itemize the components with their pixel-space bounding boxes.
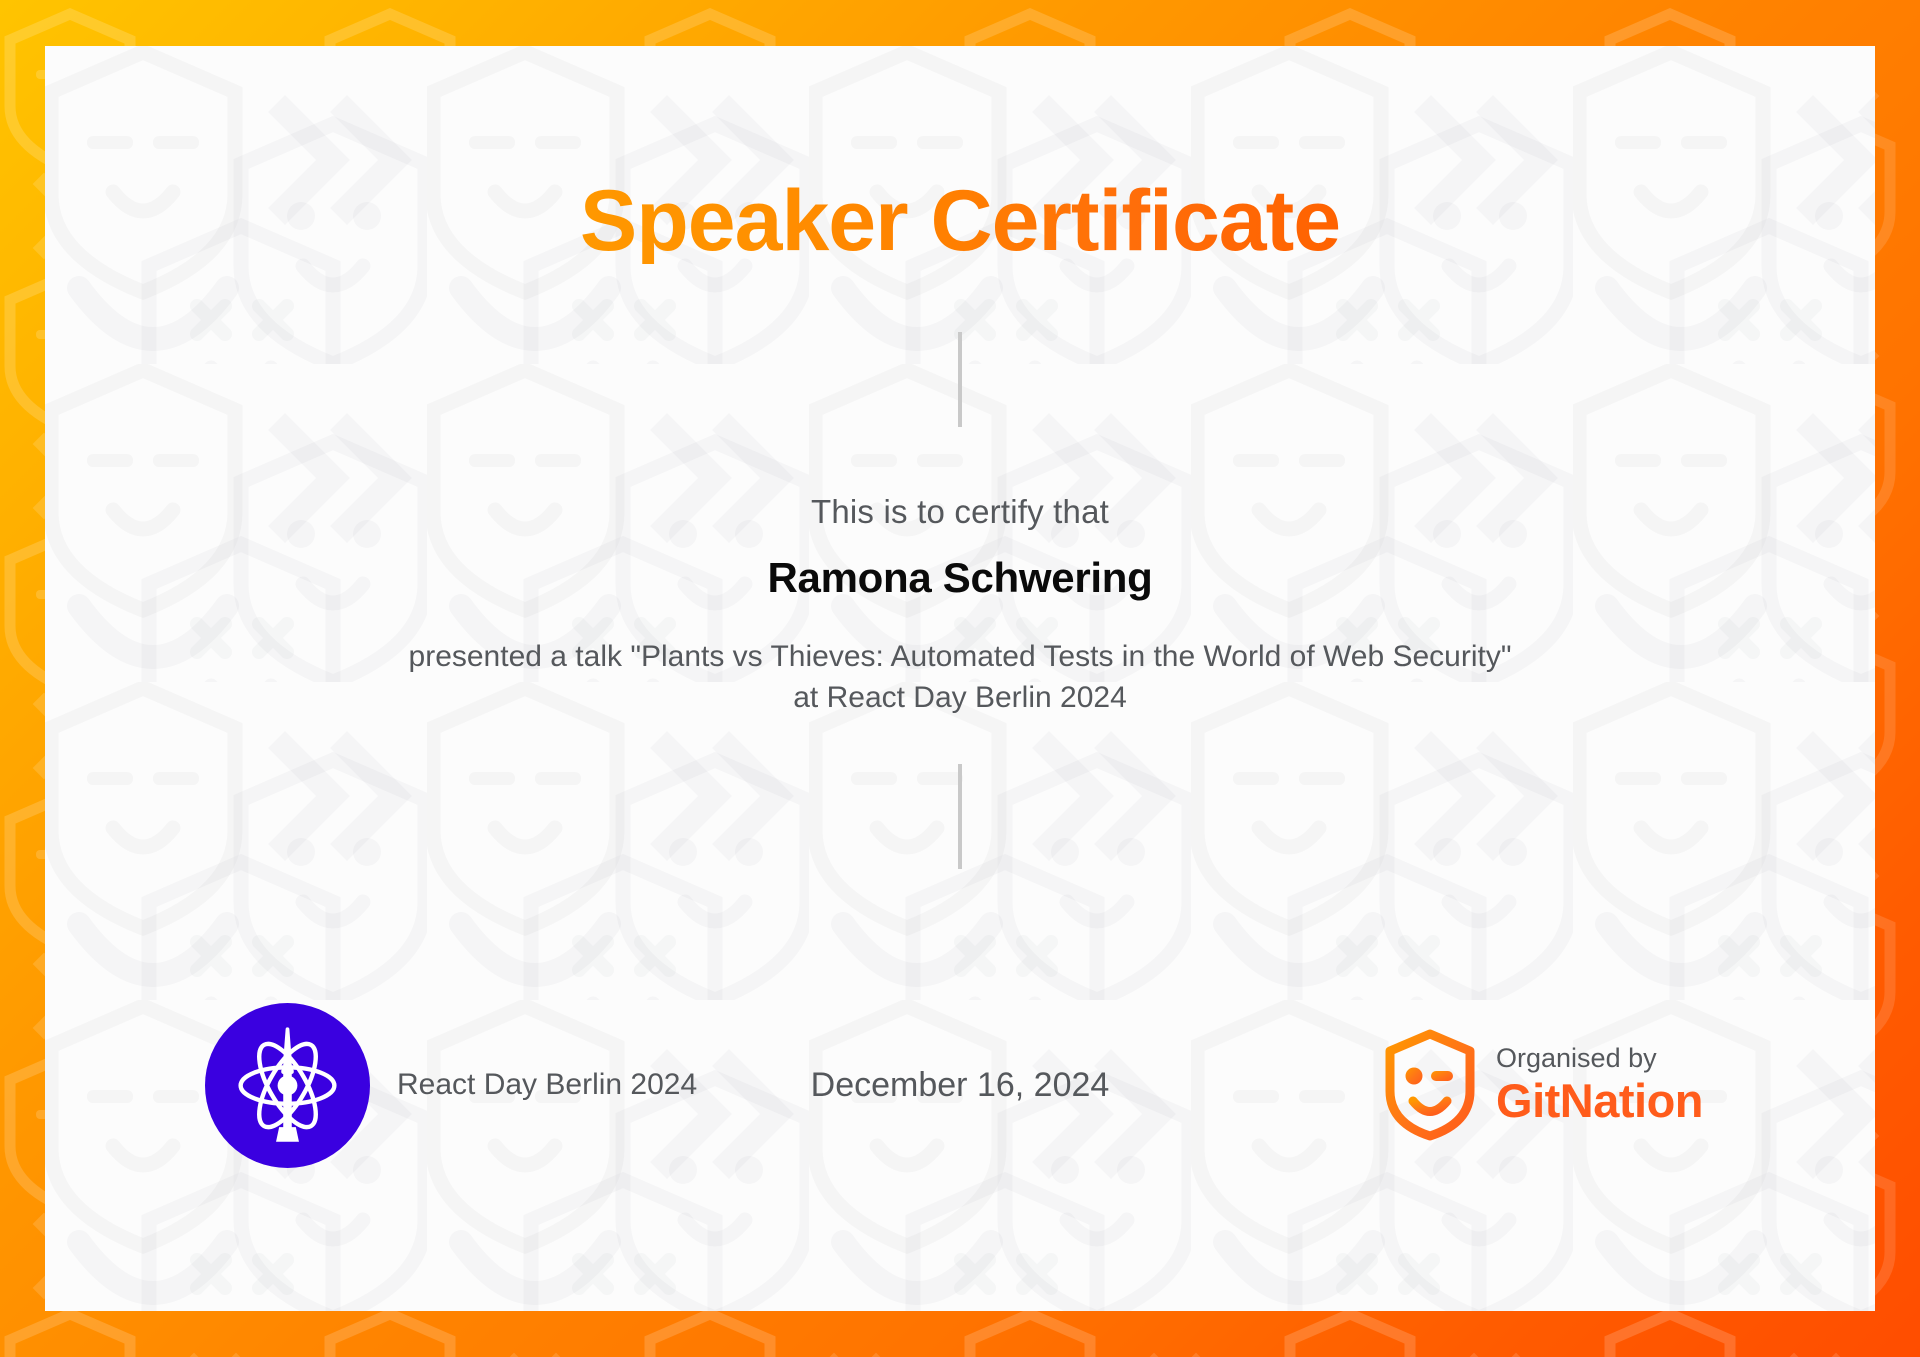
certificate-card: Speaker Certificate This is to certify t…: [45, 46, 1875, 1311]
page-title: Speaker Certificate: [580, 178, 1340, 264]
certificate-frame: Speaker Certificate This is to certify t…: [0, 0, 1920, 1357]
talk-description: presented a talk "Plants vs Thieves: Aut…: [409, 636, 1512, 719]
certify-line: This is to certify that: [811, 493, 1109, 531]
recipient-name: Ramona Schwering: [768, 554, 1153, 602]
gitnation-shield-face-icon: [1384, 1029, 1476, 1141]
organiser-text: Organised by GitNation: [1496, 1043, 1703, 1127]
organiser-block: Organised by GitNation: [1384, 1029, 1703, 1141]
talk-description-line-2: at React Day Berlin 2024: [409, 677, 1512, 718]
talk-description-line-1: presented a talk "Plants vs Thieves: Aut…: [409, 636, 1512, 677]
certificate-footer: React Day Berlin 2024 December 16, 2024: [45, 1005, 1875, 1165]
divider-bottom: [958, 764, 962, 869]
divider-top: [958, 332, 962, 427]
organised-by-label: Organised by: [1496, 1043, 1703, 1074]
organiser-name: GitNation: [1496, 1074, 1703, 1128]
